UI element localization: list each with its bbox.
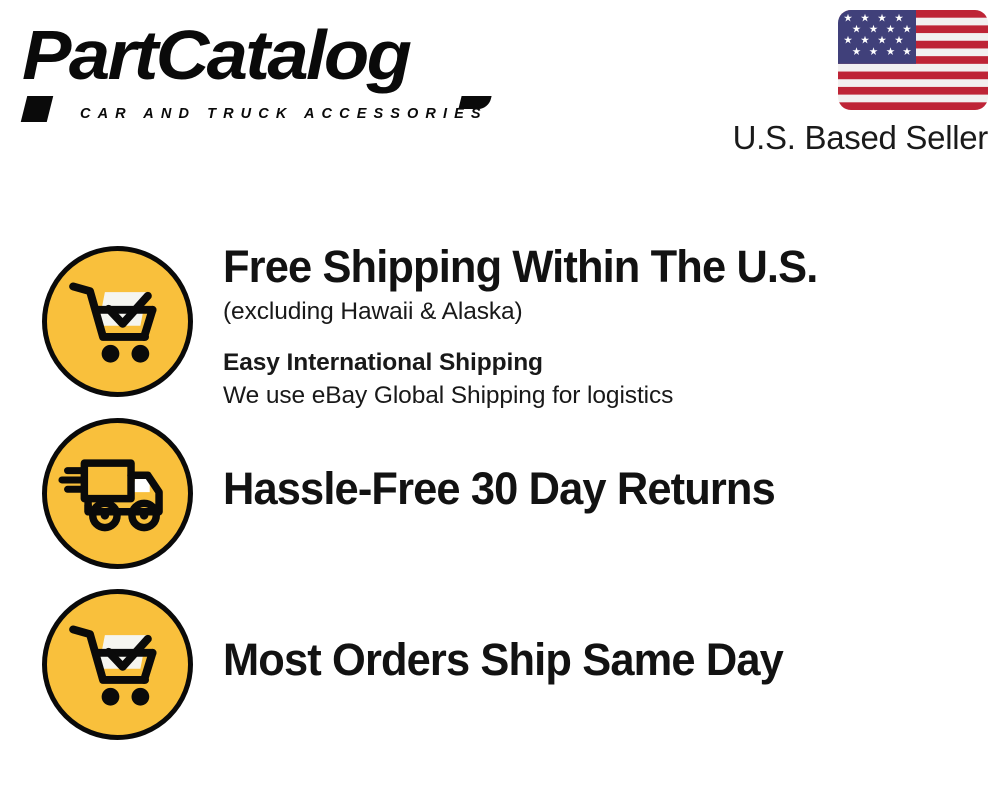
feature-text: Most Orders Ship Same Day [223,635,963,685]
feature-row: Free Shipping Within The U.S. (excluding… [0,246,1000,398]
feature-title: Free Shipping Within The U.S. [223,242,937,292]
feature-text: Hassle-Free 30 Day Returns [223,464,963,514]
feature-row: Most Orders Ship Same Day [0,589,1000,741]
shopping-cart-check-icon [47,594,188,735]
feature-text: Free Shipping Within The U.S. (excluding… [223,242,963,412]
feature-badge [42,589,193,740]
feature-subtitle-strong: Easy International Shipping [223,347,963,379]
feature-row: Hassle-Free 30 Day Returns [0,418,1000,570]
delivery-truck-icon [47,423,188,564]
feature-badge [42,418,193,569]
feature-title: Most Orders Ship Same Day [223,635,937,685]
feature-list: Free Shipping Within The U.S. (excluding… [0,0,1000,800]
feature-subtitle: (excluding Hawaii & Alaska) [223,296,963,328]
feature-subtitle: We use eBay Global Shipping for logistic… [223,380,963,412]
shopping-cart-check-icon [47,251,188,392]
feature-title: Hassle-Free 30 Day Returns [223,464,937,514]
feature-badge [42,246,193,397]
